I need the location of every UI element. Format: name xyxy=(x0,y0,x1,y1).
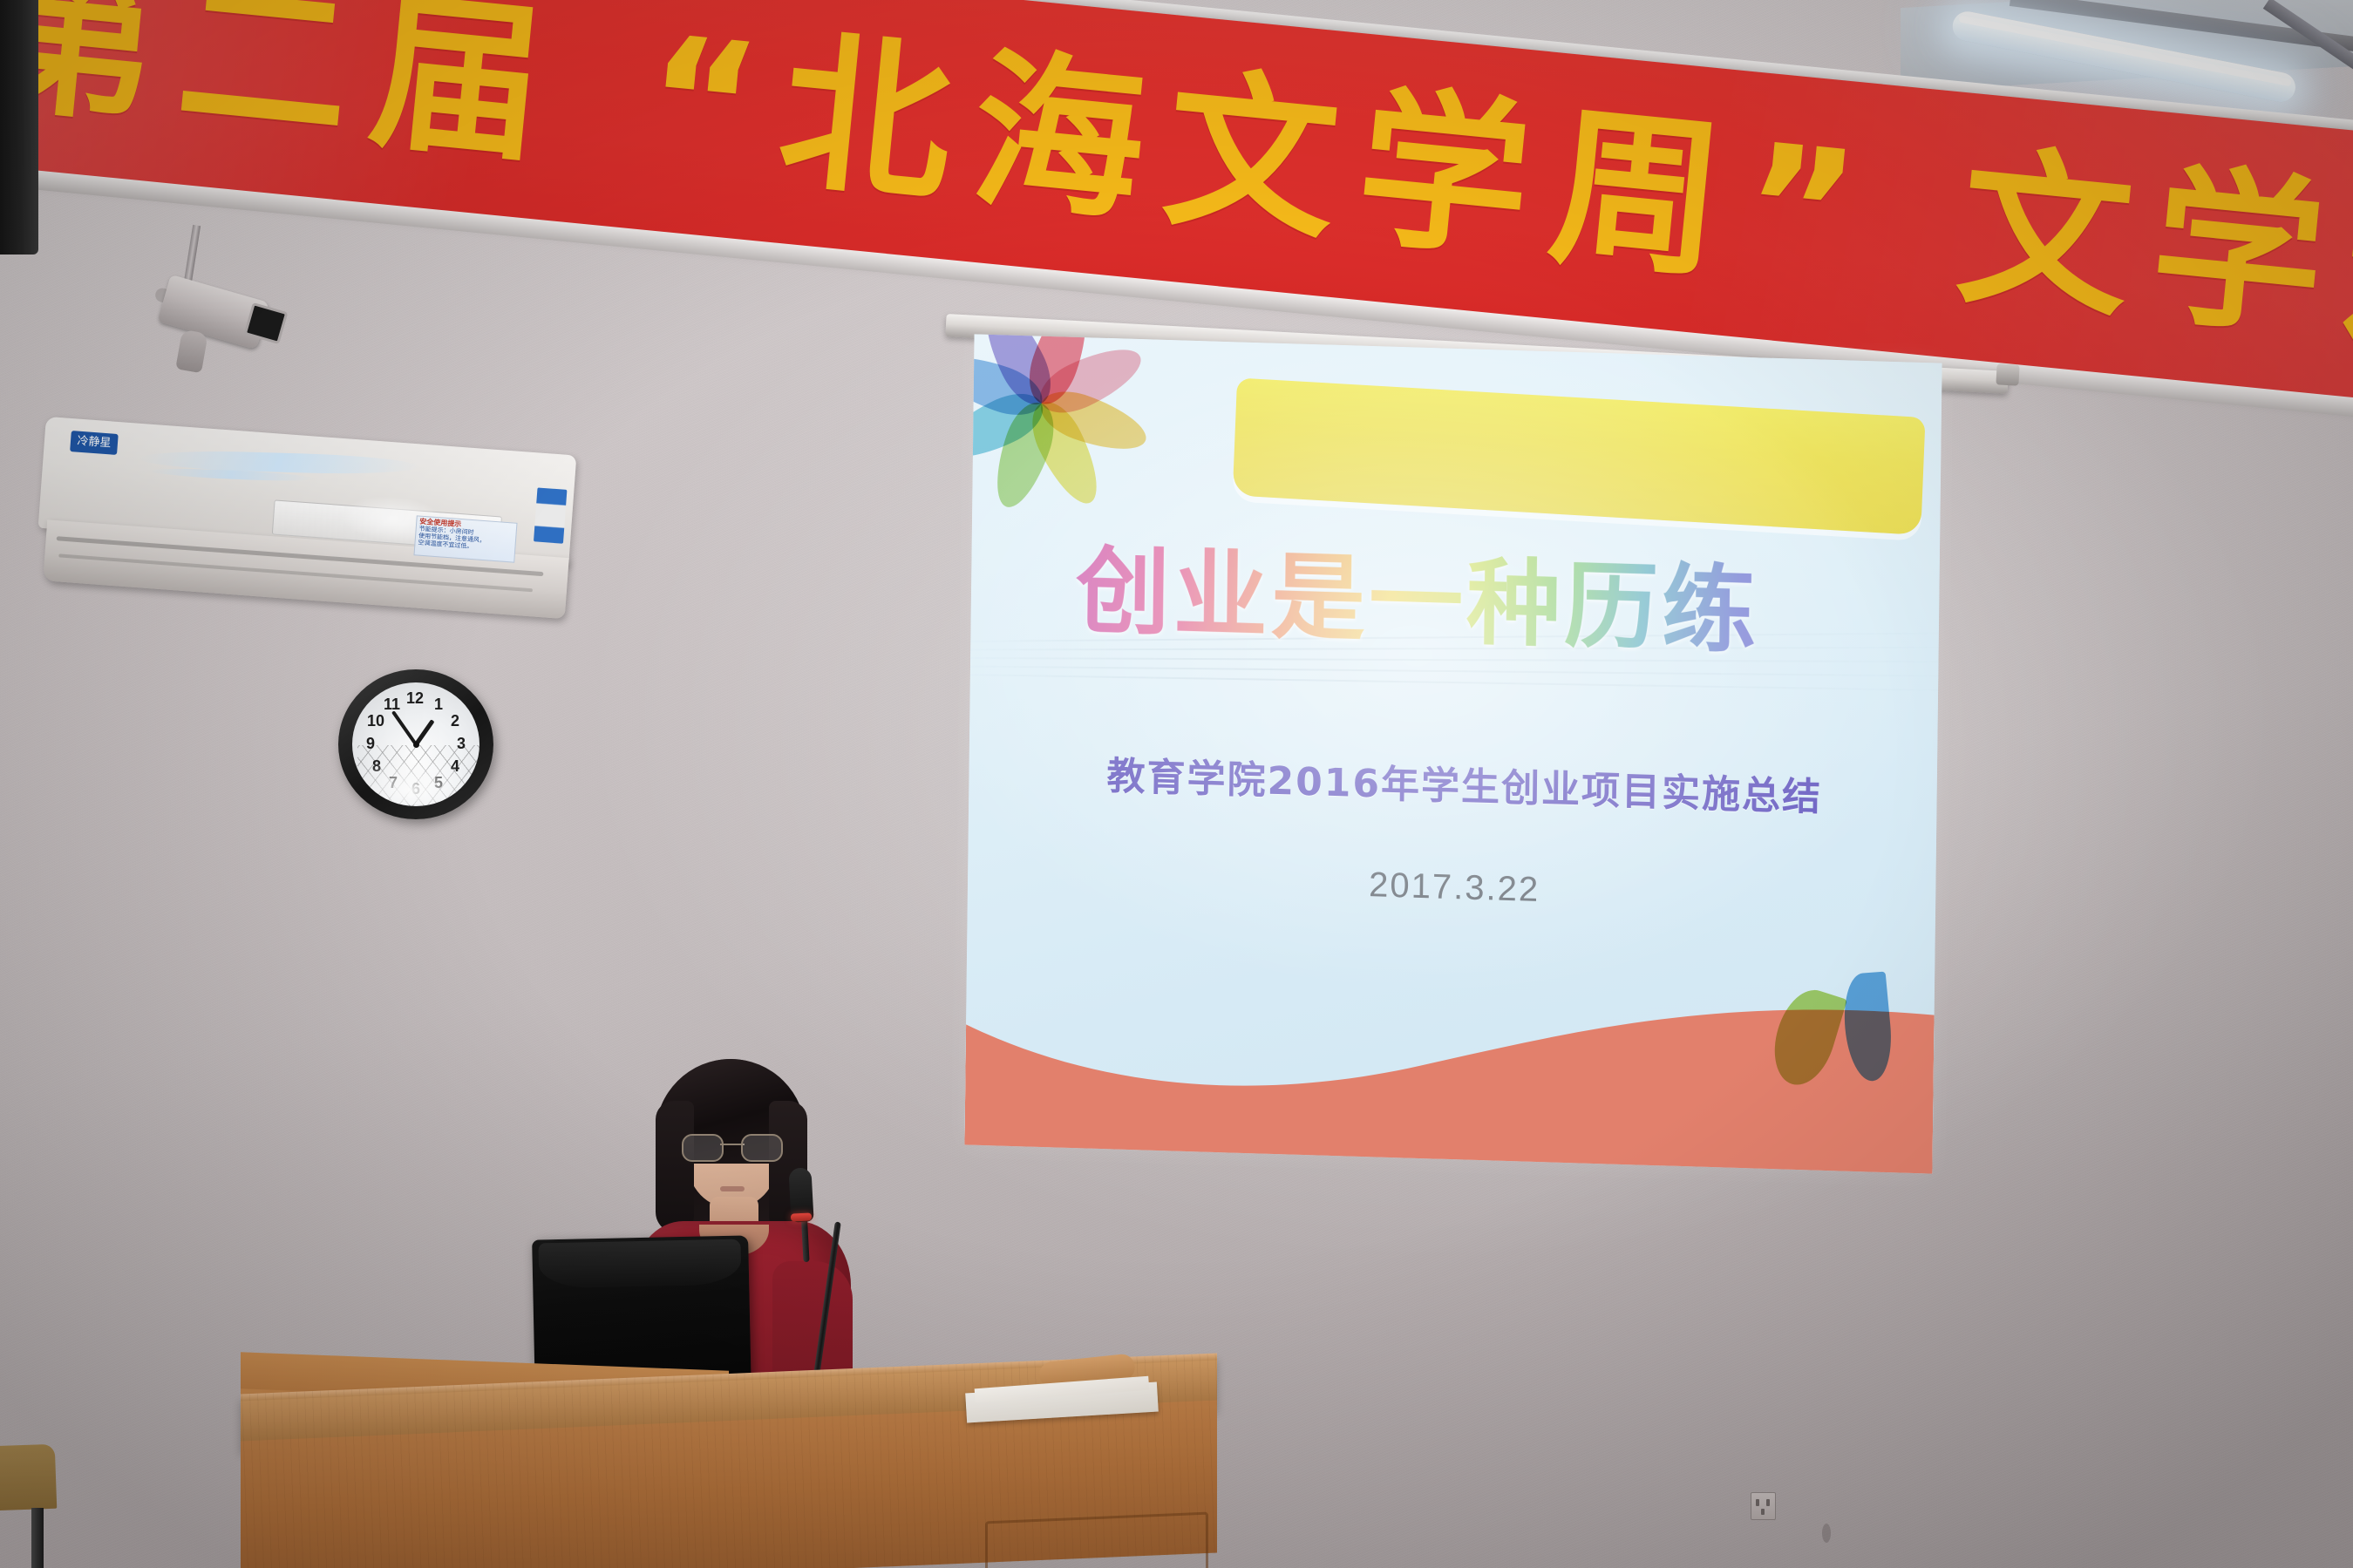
wall-speaker-box xyxy=(0,0,38,255)
clock-face: 121234567891011 xyxy=(352,682,479,806)
slide-canvas: 创业是一种历练 教育学院2016年学生创业项目实施总结 2017.3.22 xyxy=(964,334,1942,1173)
flower-decoration-icon xyxy=(964,334,1156,515)
slide-subtitle: 教育学院2016年学生创业项目实施总结 xyxy=(1106,744,1822,822)
lecture-hall-photo: 第二届 “北海文学周” 文学进 校园 冷静星 安全使用提示 节能提示：小房间时 … xyxy=(0,0,2353,1568)
clock-numeral-1: 1 xyxy=(434,696,443,714)
clock-numeral-12: 12 xyxy=(406,689,424,708)
eyeglass-lens-left xyxy=(682,1134,724,1162)
auditorium-chair xyxy=(0,1444,57,1510)
eyeglass-lens-right xyxy=(741,1134,783,1162)
presenter-mouth xyxy=(720,1186,745,1191)
projected-slide: 创业是一种历练 教育学院2016年学生创业项目实施总结 2017.3.22 xyxy=(964,334,1942,1173)
chair-leg xyxy=(31,1508,44,1568)
slide-title: 创业是一种历练 xyxy=(1075,540,1860,668)
clock-numeral-2: 2 xyxy=(451,712,459,730)
clock-numeral-10: 10 xyxy=(367,712,384,730)
ac-energy-label xyxy=(534,487,567,543)
wall-clock: 121234567891011 xyxy=(338,669,493,819)
podium-monitor-hood xyxy=(538,1239,741,1289)
slide-date: 2017.3.22 xyxy=(1369,865,1540,910)
slide-header-band xyxy=(1233,377,1926,535)
microphone-status-led xyxy=(791,1212,812,1221)
projection-screen-roller-cap xyxy=(1996,363,2019,385)
clock-glass-glare xyxy=(359,757,473,804)
swoosh-line-5 xyxy=(964,674,1942,692)
eyeglasses-icon xyxy=(682,1134,783,1158)
ac-brand-label: 冷静星 xyxy=(70,431,119,455)
wall-power-outlet-icon xyxy=(1751,1492,1776,1520)
presenter-hair-left xyxy=(656,1101,694,1233)
ac-warning-sticker: 安全使用提示 节能提示：小房间时 使用节能档，注意通风， 空调温度不宜过低。 xyxy=(413,515,517,562)
clock-minute-hand xyxy=(391,710,418,745)
